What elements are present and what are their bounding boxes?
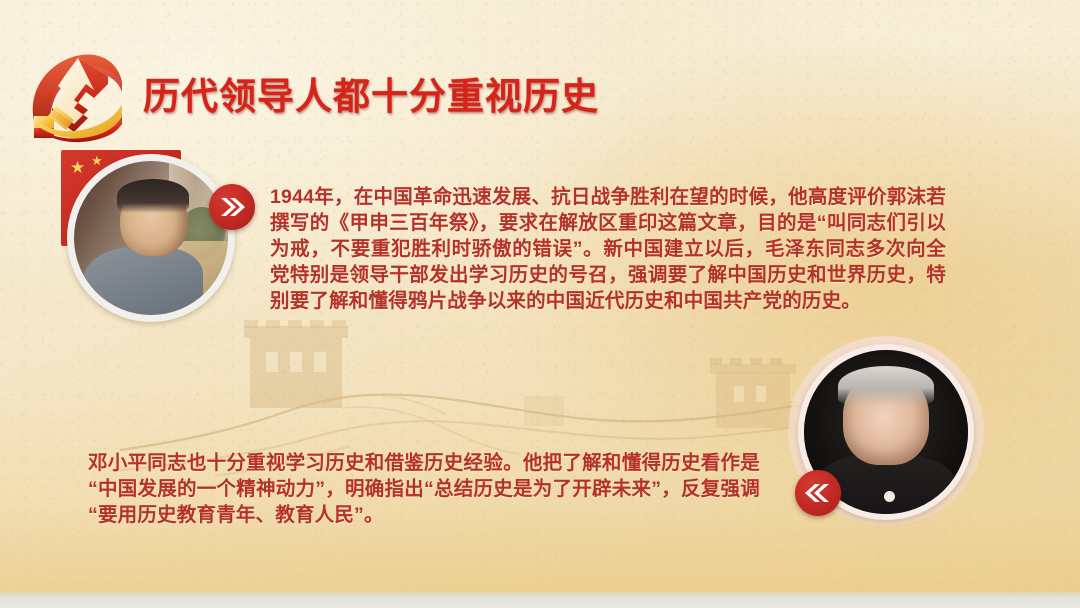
portrait-mao[interactable]: ★ ★ ★ ★ ★ bbox=[55, 148, 237, 326]
paragraph-deng: 邓小平同志也十分重视学习历史和借鉴历史经验。他把了解和懂得历史看作是“中国发展的… bbox=[88, 450, 760, 528]
double-chevron-left-icon[interactable] bbox=[795, 470, 841, 516]
paragraph-mao: 1944年，在中国革命迅速发展、抗日战争胜利在望的时候，他高度评价郭沫若撰写的《… bbox=[270, 184, 946, 314]
hammer-sickle-emblem-icon bbox=[16, 42, 128, 150]
slide-canvas: 历代领导人都十分重视历史 ★ ★ ★ ★ ★ 1944年，在中国革命迅速发展、抗… bbox=[0, 0, 1080, 608]
page-title: 历代领导人都十分重视历史 bbox=[143, 66, 599, 120]
bottom-edge-strip bbox=[0, 592, 1080, 608]
portrait-photo-mao bbox=[74, 161, 228, 315]
double-chevron-right-icon[interactable] bbox=[209, 184, 255, 230]
